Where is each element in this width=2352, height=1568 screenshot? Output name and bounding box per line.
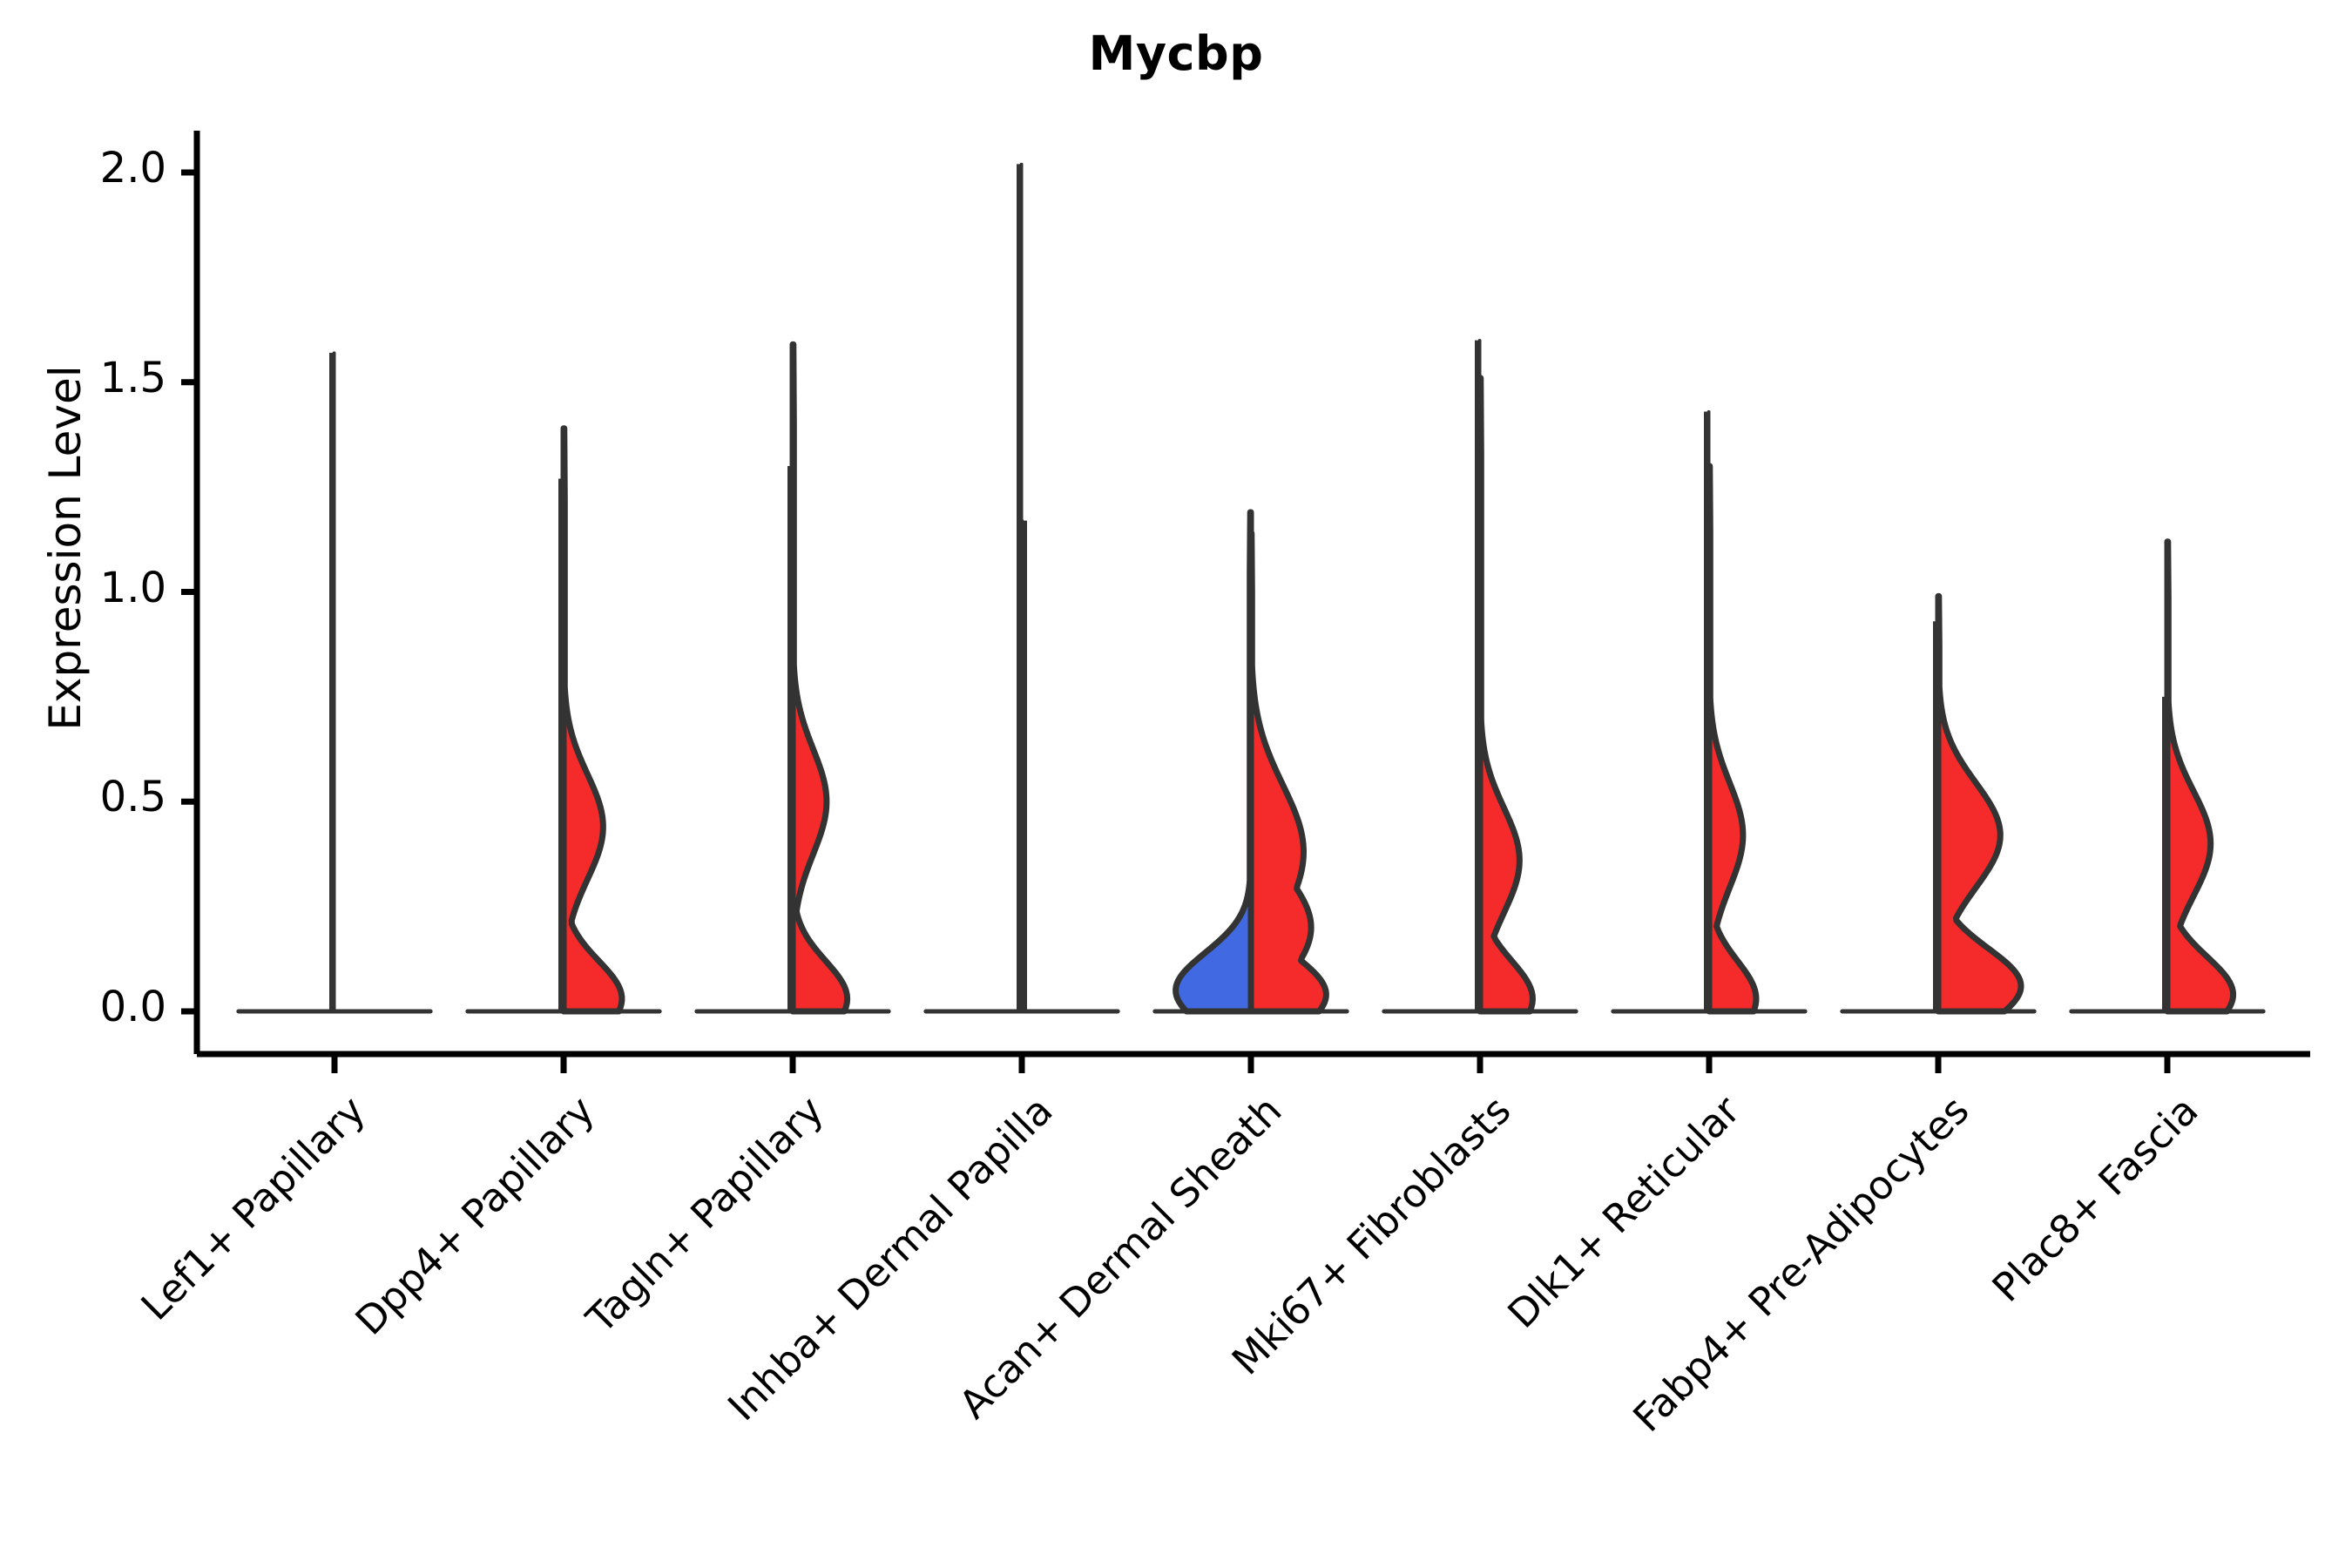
violin-body — [1251, 533, 1326, 1011]
violin-right-2 — [793, 344, 889, 1011]
violin-left-1 — [468, 478, 564, 1011]
violin-body — [1709, 466, 1756, 1011]
violin-right-4 — [1251, 533, 1347, 1011]
violin-right-1 — [564, 429, 659, 1011]
violin-left-4 — [1155, 512, 1251, 1011]
violin-body — [1480, 378, 1532, 1011]
violin-body — [2167, 542, 2234, 1011]
violin-right-5 — [1480, 378, 1576, 1011]
violin-right-3 — [1022, 521, 1118, 1011]
violin-left-7 — [1842, 621, 1938, 1011]
violin-body — [793, 344, 848, 1011]
plot-canvas — [0, 0, 2352, 1568]
violin-left-8 — [2072, 697, 2167, 1011]
violin-plot-figure: Mycbp Expression Level 0.00.51.01.52.0 L… — [0, 0, 2352, 1568]
violin-body — [1938, 596, 2021, 1011]
violin-right-6 — [1709, 466, 1805, 1011]
violin-left-5 — [1384, 341, 1480, 1011]
violin-left-6 — [1613, 411, 1709, 1011]
violin-body — [1176, 512, 1251, 1011]
violin-left-2 — [697, 466, 793, 1011]
violin-right-8 — [2167, 542, 2263, 1011]
violin-left-0 — [239, 353, 335, 1011]
violin-left-3 — [926, 164, 1022, 1011]
violin-layer — [239, 164, 2263, 1011]
violin-right-7 — [1938, 596, 2034, 1011]
violin-body — [564, 429, 622, 1011]
